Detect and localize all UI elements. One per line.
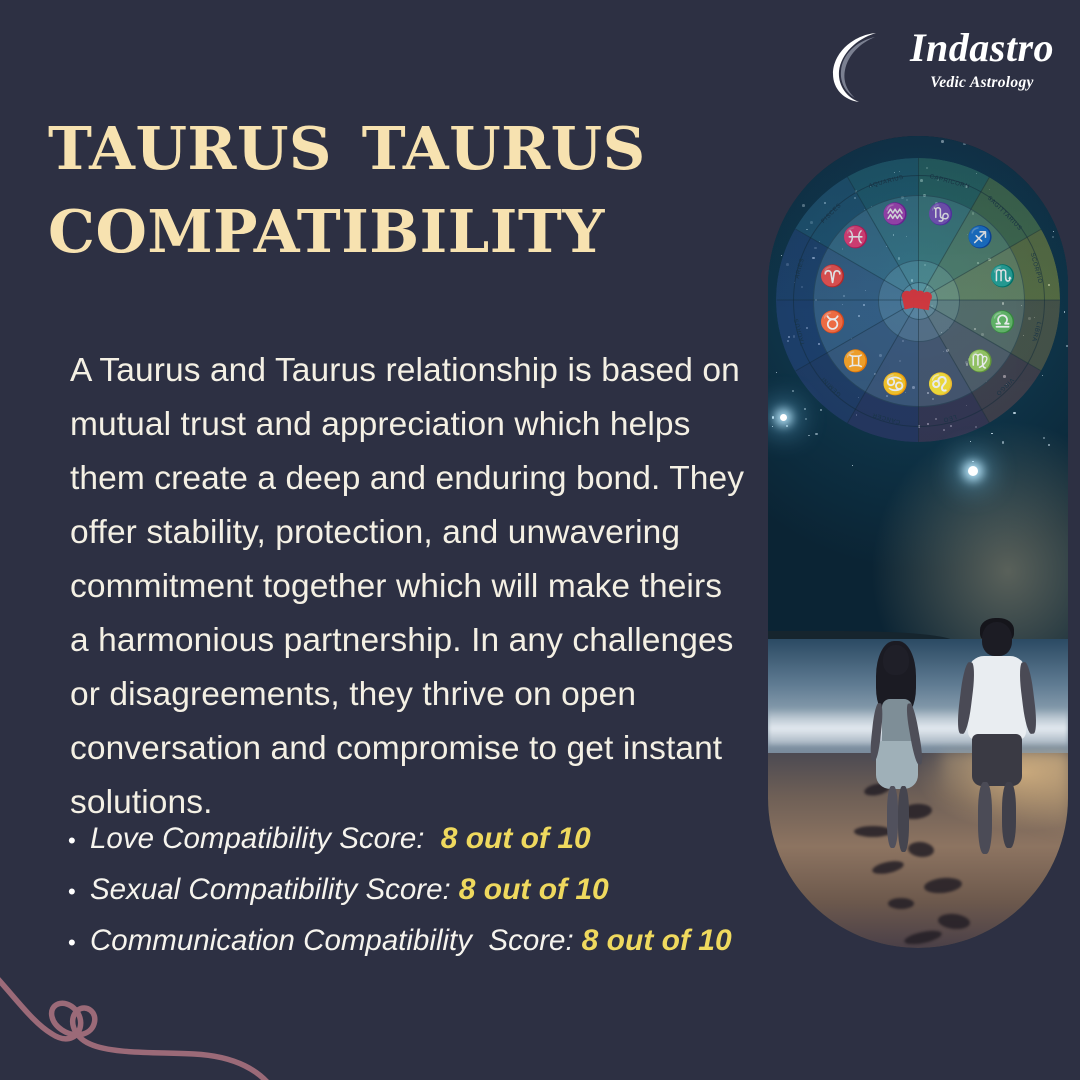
zodiac-wheel: ♑♐♏♎♍♌♋♊♉♈♓♒ CAPRICORNSAGITTARIUSSCORPIO… (776, 158, 1060, 442)
score-label: Sexual Compatibility Score: (90, 873, 451, 907)
title-line-1: Taurus Taurus (48, 98, 748, 181)
zodiac-sign-glyph: ♓ (841, 223, 871, 253)
title-line-2: Compatibility (48, 181, 748, 264)
zodiac-sign-glyph: ♐ (965, 223, 995, 253)
crescent-moon-icon (820, 28, 898, 106)
zodiac-sign-glyph: ♍ (965, 347, 995, 377)
compatibility-score-list: • Love Compatibility Score: 8 out of 10 … (68, 822, 808, 975)
score-label: Communication Compatibility Score: (90, 924, 574, 958)
compatibility-poster: Indastro Vedic Astrology Taurus Taurus C… (0, 0, 1080, 1080)
zodiac-sign-glyph: ♈ (818, 262, 848, 292)
score-label: Love Compatibility Score: (90, 822, 433, 856)
bullet-icon: • (68, 881, 90, 903)
heart-line-doodle (0, 960, 274, 1080)
zodiac-sign-glyph: ♊ (841, 347, 871, 377)
score-value: 8 out of 10 (459, 873, 609, 907)
couple-beach-zodiac-image: ♑♐♏♎♍♌♋♊♉♈♓♒ CAPRICORNSAGITTARIUSSCORPIO… (768, 136, 1068, 948)
zodiac-sign-glyph: ♒ (880, 200, 910, 230)
brand-name: Indastro (902, 28, 1062, 68)
brand-tagline: Vedic Astrology (902, 75, 1062, 91)
list-item: • Love Compatibility Score: 8 out of 10 (68, 822, 808, 873)
page-title: Taurus Taurus Compatibility (48, 98, 748, 264)
zodiac-sign-glyph: ♌ (926, 370, 956, 400)
double-heart-icon (903, 291, 933, 309)
score-value: 8 out of 10 (582, 924, 732, 958)
woman-figure (864, 641, 934, 856)
zodiac-sign-glyph: ♎ (988, 308, 1018, 338)
zodiac-sign-glyph: ♉ (818, 308, 848, 338)
bullet-icon: • (68, 932, 90, 954)
man-figure (958, 618, 1044, 860)
zodiac-sign-glyph: ♋ (880, 370, 910, 400)
list-item: • Sexual Compatibility Score: 8 out of 1… (68, 873, 808, 924)
description-paragraph: A Taurus and Taurus relationship is base… (70, 344, 750, 830)
zodiac-sign-glyph: ♑ (926, 200, 956, 230)
brand-logo[interactable]: Indastro Vedic Astrology (820, 22, 1060, 112)
bullet-icon: • (68, 830, 90, 852)
zodiac-sign-glyph: ♏ (988, 262, 1018, 292)
score-value: 8 out of 10 (441, 822, 591, 856)
